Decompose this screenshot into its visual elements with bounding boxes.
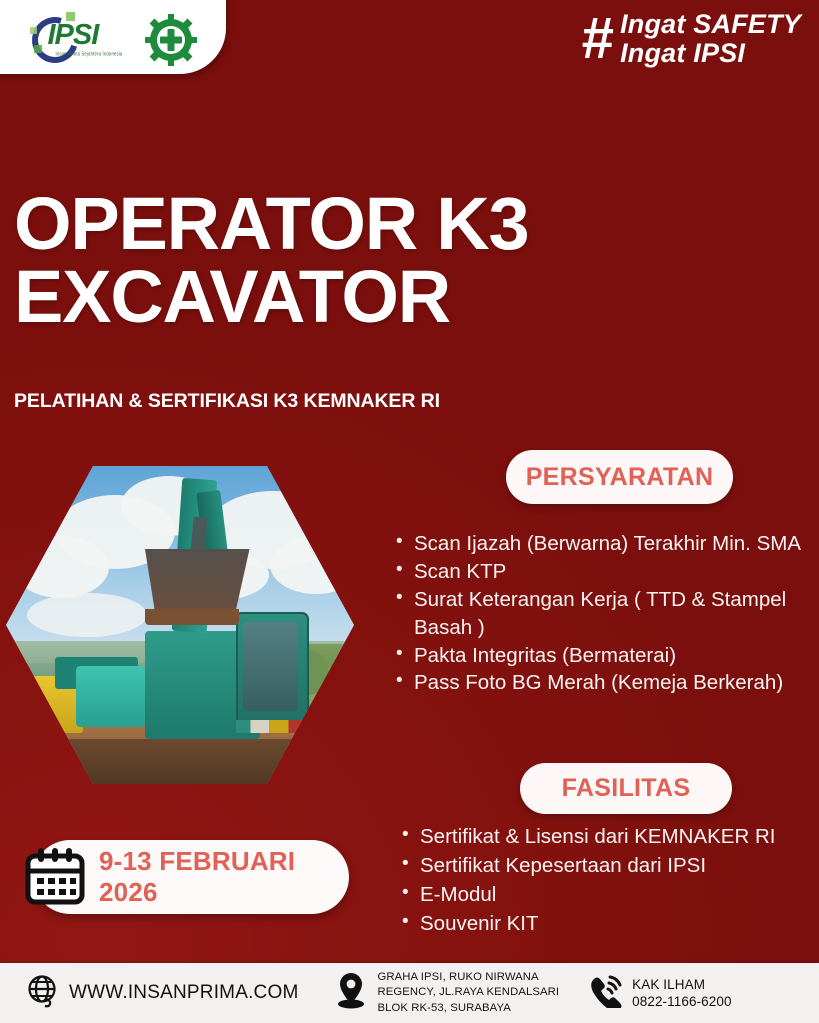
hashtag-line-1: Ingat SAFETY — [620, 10, 801, 39]
footer-contact[interactable]: KAK ILHAM 0822-1166-6200 — [587, 974, 732, 1013]
globe-icon — [26, 974, 60, 1013]
contact-lines: KAK ILHAM 0822-1166-6200 — [632, 976, 732, 1011]
list-item: Sertifikat Kepesertaan dari IPSI — [398, 852, 810, 881]
photo-excavator-glass — [243, 622, 299, 711]
photo-bucket-lip — [145, 609, 239, 625]
photo-cloud — [27, 593, 147, 637]
list-item: Pakta Integritas (Bermaterai) — [392, 642, 816, 670]
phone-ringing-icon — [587, 974, 623, 1013]
persyaratan-list: Scan Ijazah (Berwarna) Terakhir Min. SMA… — [392, 530, 816, 697]
fasilitas-badge: FASILITAS — [520, 763, 732, 814]
photo-track — [41, 739, 340, 784]
list-item: Sertifikat & Lisensi dari KEMNAKER RI — [398, 823, 810, 852]
photo-second-excavator — [76, 666, 146, 726]
brand-logo-panel: IPSI Insan Prima Sejahtera Indonesia — [0, 0, 226, 74]
address-lines: GRAHA IPSI, RUKO NIRWANA REGENCY, JL.RAY… — [377, 970, 559, 1015]
headline-subtitle: PELATIHAN & SERTIFIKASI K3 KEMNAKER RI — [14, 390, 440, 413]
list-item: Scan Ijazah (Berwarna) Terakhir Min. SMA — [392, 530, 816, 558]
logo-tagline: Insan Prima Sejahtera Indonesia — [56, 50, 123, 56]
address-line-2: REGENCY, JL.RAYA KENDALSARI — [377, 985, 559, 1000]
fasilitas-list: Sertifikat & Lisensi dari KEMNAKER RI Se… — [398, 823, 810, 939]
address-line-1: GRAHA IPSI, RUKO NIRWANA — [377, 970, 559, 985]
photo-cloud — [270, 536, 354, 594]
poster-canvas: IPSI Insan Prima Sejahtera Indonesia — [0, 0, 819, 1023]
photo-cloud — [13, 536, 109, 598]
logo-inner: IPSI Insan Prima Sejahtera Indonesia — [0, 14, 197, 66]
website-text: WWW.INSANPRIMA.COM — [69, 982, 298, 1004]
footer-address: GRAHA IPSI, RUKO NIRWANA REGENCY, JL.RAY… — [334, 970, 559, 1015]
list-item: Surat Keterangan Kerja ( TTD & Stampel B… — [392, 586, 816, 642]
headline-block: OPERATOR K3 EXCAVATOR — [14, 188, 634, 333]
logo-wordmark: IPSI — [48, 19, 99, 52]
list-item: E-Modul — [398, 881, 810, 910]
footer-bar: WWW.INSANPRIMA.COM GRAHA IPSI, RUKO NIRW… — [0, 963, 819, 1023]
address-line-3: BLOK RK-53, SURABAYA — [377, 1001, 559, 1016]
date-text: 9-13 FEBRUARI 2026 — [99, 846, 349, 908]
list-item: Scan KTP — [392, 558, 816, 586]
headline-line-2: EXCAVATOR — [14, 261, 634, 334]
contact-name: KAK ILHAM — [632, 976, 732, 993]
headline-line-1: OPERATOR K3 — [14, 188, 634, 261]
gear-plus-icon — [145, 14, 197, 66]
hashtag-line-2: Ingat IPSI — [620, 39, 801, 68]
photo-wheel — [13, 708, 58, 753]
list-item: Souvenir KIT — [398, 910, 810, 939]
ipsi-logo-mark: IPSI Insan Prima Sejahtera Indonesia — [32, 15, 136, 65]
calendar-icon — [24, 846, 86, 908]
excavator-photo — [6, 466, 354, 784]
hashtag-lines: Ingat SAFETY Ingat IPSI — [620, 10, 801, 68]
contact-number: 0822-1166-6200 — [632, 993, 732, 1010]
hashtag-slogan: # Ingat SAFETY Ingat IPSI — [581, 10, 801, 68]
photo-counterweight-stripe — [236, 720, 309, 733]
map-pin-icon — [334, 971, 368, 1014]
logo-square-3 — [30, 27, 37, 34]
persyaratan-badge: PERSYARATAN — [506, 450, 733, 504]
logo-square-2 — [34, 45, 42, 53]
hash-icon: # — [581, 14, 610, 64]
list-item: Pass Foto BG Merah (Kemeja Berkerah) — [392, 669, 816, 697]
footer-website[interactable]: WWW.INSANPRIMA.COM — [26, 974, 298, 1013]
